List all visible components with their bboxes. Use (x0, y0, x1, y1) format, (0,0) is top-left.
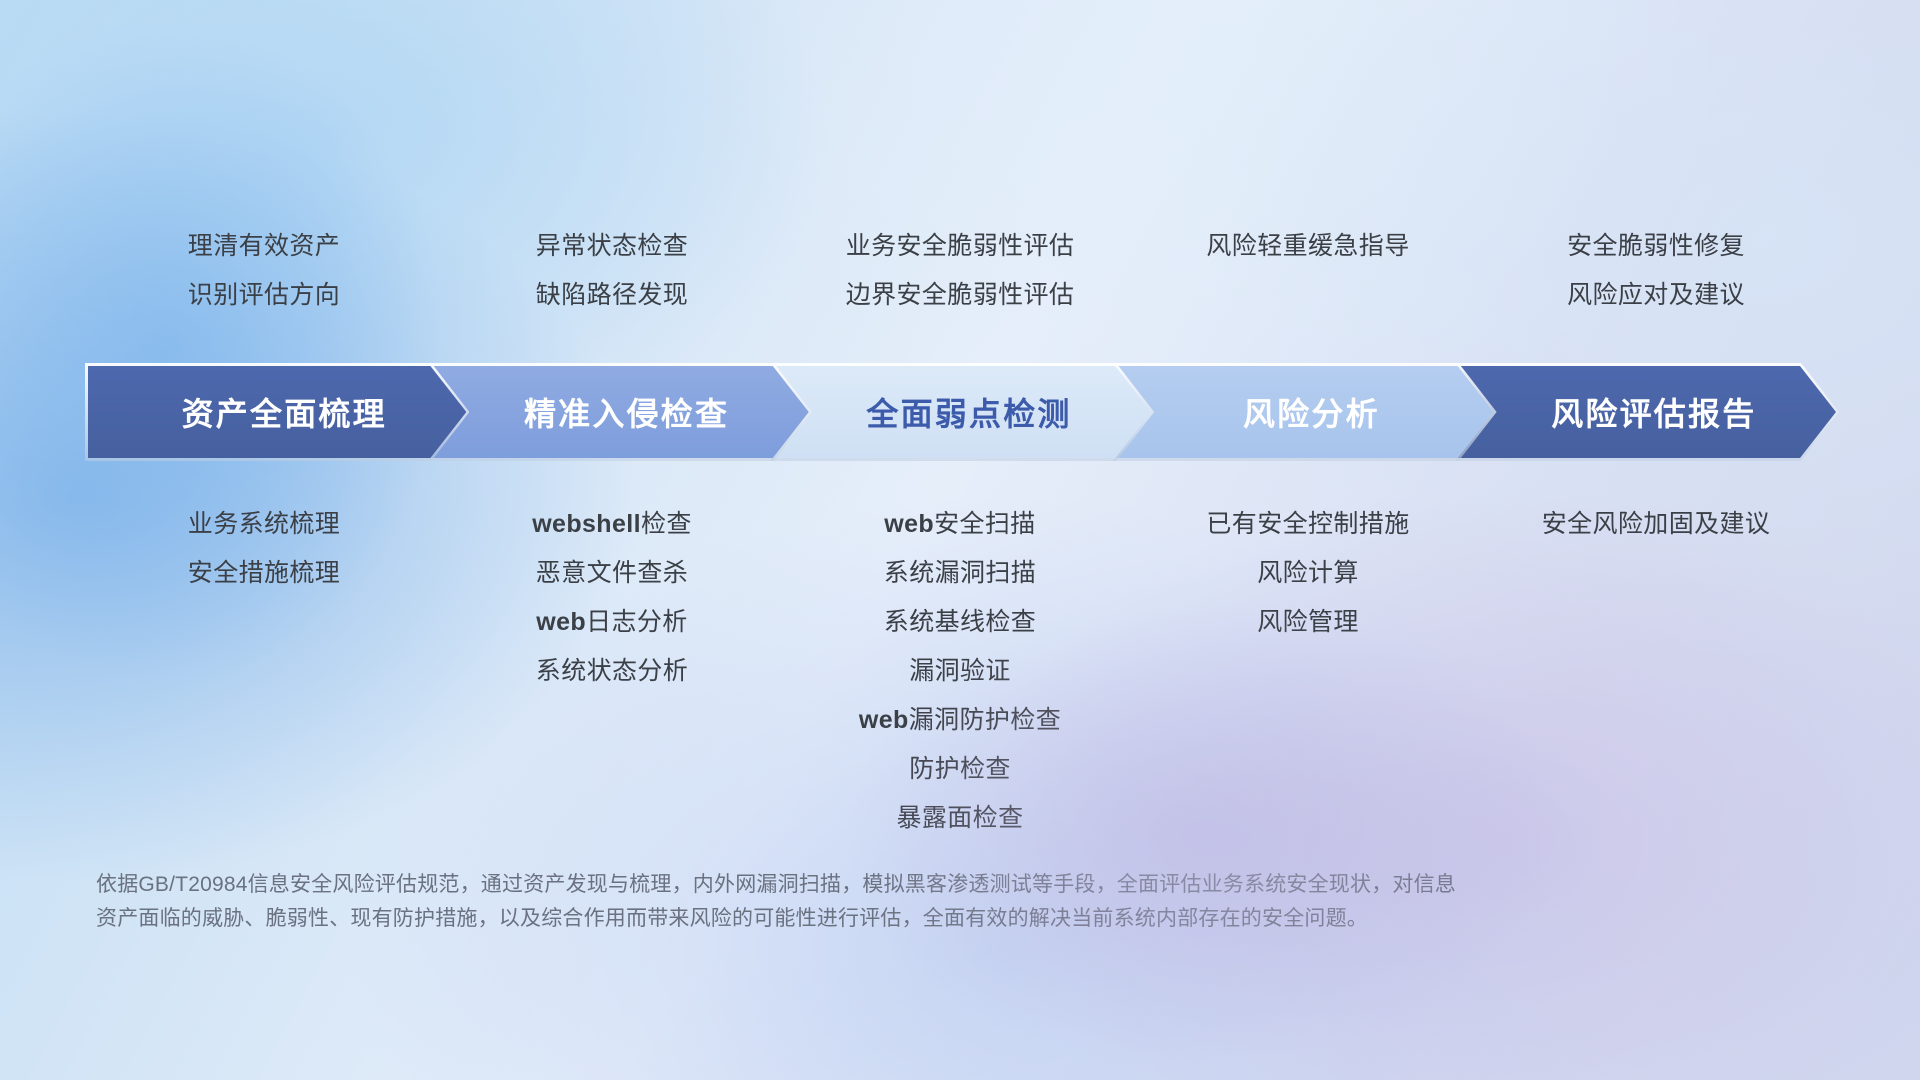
top-label-item: 识别评估方向 (90, 271, 438, 320)
process-step-label: 全面弱点检测 (852, 389, 1071, 435)
bottom-list-item-text: 风险计算 (1257, 559, 1359, 587)
bottom-list-group-3: web安全扫描系统漏洞扫描系统基线检查漏洞验证web漏洞防护检查防护检查暴露面检… (786, 500, 1134, 843)
footer-line-1: 依据GB/T20984信息安全风险评估规范，通过资产发现与梳理，内外网漏洞扫描，… (96, 868, 1736, 902)
bottom-lists-row: 业务系统梳理安全措施梳理webshell检查恶意文件查杀web日志分析系统状态分… (90, 500, 1830, 843)
bottom-list-item-text: 已有安全控制措施 (1206, 510, 1409, 538)
bottom-list-item-text: 系统漏洞扫描 (884, 559, 1036, 587)
top-label-item: 异常状态检查 (438, 222, 786, 271)
process-step-label: 资产全面梳理 (168, 389, 387, 435)
bottom-list-group-5: 安全风险加固及建议 (1482, 500, 1830, 549)
bottom-list-item: 漏洞验证 (786, 647, 1134, 696)
process-chevron-banner: 资产全面梳理精准入侵检查全面弱点检测风险分析风险评估报告 (88, 366, 1836, 458)
top-label-item: 缺陷路径发现 (438, 271, 786, 320)
bottom-list-item-text: 恶意文件查杀 (536, 559, 688, 587)
bottom-list-item: 业务系统梳理 (90, 500, 438, 549)
bottom-list-group-4: 已有安全控制措施风险计算风险管理 (1134, 500, 1482, 647)
bottom-list-item-text: 安全措施梳理 (188, 559, 340, 587)
top-label-item: 风险轻重缓急指导 (1134, 222, 1482, 271)
top-label-item: 理清有效资产 (90, 222, 438, 271)
bottom-list-item-text: 漏洞防护检查 (909, 706, 1061, 734)
bottom-list-item: 风险计算 (1134, 549, 1482, 598)
bottom-list-item-text: 防护检查 (909, 755, 1011, 783)
bottom-list-item: 系统状态分析 (438, 647, 786, 696)
bottom-list-item-text: 系统状态分析 (536, 657, 688, 685)
footer-description: 依据GB/T20984信息安全风险评估规范，通过资产发现与梳理，内外网漏洞扫描，… (96, 868, 1736, 936)
bottom-list-item-en: web (884, 510, 934, 538)
top-label-group-5: 安全脆弱性修复风险应对及建议 (1482, 222, 1830, 320)
bottom-list-item: webshell检查 (438, 500, 786, 549)
process-step-label: 风险分析 (1229, 389, 1380, 435)
top-label-item: 边界安全脆弱性评估 (786, 271, 1134, 320)
bottom-list-item-text: 系统基线检查 (884, 608, 1036, 636)
process-step-5[interactable]: 风险评估报告 (1458, 366, 1836, 458)
bottom-list-item: 安全措施梳理 (90, 549, 438, 598)
process-step-label: 风险评估报告 (1537, 389, 1756, 435)
top-labels-row: 理清有效资产识别评估方向异常状态检查缺陷路径发现业务安全脆弱性评估边界安全脆弱性… (90, 222, 1830, 320)
process-step-label: 精准入侵检查 (510, 389, 729, 435)
top-label-item: 安全脆弱性修复 (1482, 222, 1830, 271)
bottom-list-item: web漏洞防护检查 (786, 696, 1134, 745)
bottom-list-item-en: web (536, 608, 586, 636)
bottom-list-item: web日志分析 (438, 598, 786, 647)
bottom-list-item-text: 安全风险加固及建议 (1542, 510, 1771, 538)
bottom-list-item-text: 暴露面检查 (896, 804, 1023, 832)
bottom-list-item: 系统基线检查 (786, 598, 1134, 647)
bottom-list-item: 恶意文件查杀 (438, 549, 786, 598)
top-label-group-2: 异常状态检查缺陷路径发现 (438, 222, 786, 320)
top-label-item: 业务安全脆弱性评估 (786, 222, 1134, 271)
bottom-list-item-en: web (859, 706, 909, 734)
bottom-list-item: 暴露面检查 (786, 794, 1134, 843)
top-label-item: 风险应对及建议 (1482, 271, 1830, 320)
top-label-group-3: 业务安全脆弱性评估边界安全脆弱性评估 (786, 222, 1134, 320)
bottom-list-item-text: 检查 (641, 510, 692, 538)
bottom-list-item: 防护检查 (786, 745, 1134, 794)
bottom-list-item-text: 风险管理 (1257, 608, 1359, 636)
bottom-list-item-text: 业务系统梳理 (188, 510, 340, 538)
bottom-list-item-text: 漏洞验证 (909, 657, 1011, 685)
process-step-1[interactable]: 资产全面梳理 (88, 366, 466, 458)
bottom-list-item: 已有安全控制措施 (1134, 500, 1482, 549)
bottom-list-item: 风险管理 (1134, 598, 1482, 647)
bottom-list-item: 系统漏洞扫描 (786, 549, 1134, 598)
bottom-list-group-2: webshell检查恶意文件查杀web日志分析系统状态分析 (438, 500, 786, 696)
top-label-group-4: 风险轻重缓急指导 (1134, 222, 1482, 320)
process-step-4[interactable]: 风险分析 (1115, 366, 1493, 458)
infographic-canvas: 理清有效资产识别评估方向异常状态检查缺陷路径发现业务安全脆弱性评估边界安全脆弱性… (0, 0, 1920, 1080)
bottom-list-item-en: webshell (532, 510, 641, 538)
process-step-2[interactable]: 精准入侵检查 (430, 366, 808, 458)
bottom-list-group-1: 业务系统梳理安全措施梳理 (90, 500, 438, 598)
top-label-group-1: 理清有效资产识别评估方向 (90, 222, 438, 320)
bottom-list-item: web安全扫描 (786, 500, 1134, 549)
footer-line-2: 资产面临的威胁、脆弱性、现有防护措施，以及综合作用而带来风险的可能性进行评估，全… (96, 902, 1736, 936)
process-step-3[interactable]: 全面弱点检测 (773, 366, 1151, 458)
bottom-list-item-text: 日志分析 (586, 608, 688, 636)
bottom-list-item: 安全风险加固及建议 (1482, 500, 1830, 549)
bottom-list-item-text: 安全扫描 (934, 510, 1036, 538)
